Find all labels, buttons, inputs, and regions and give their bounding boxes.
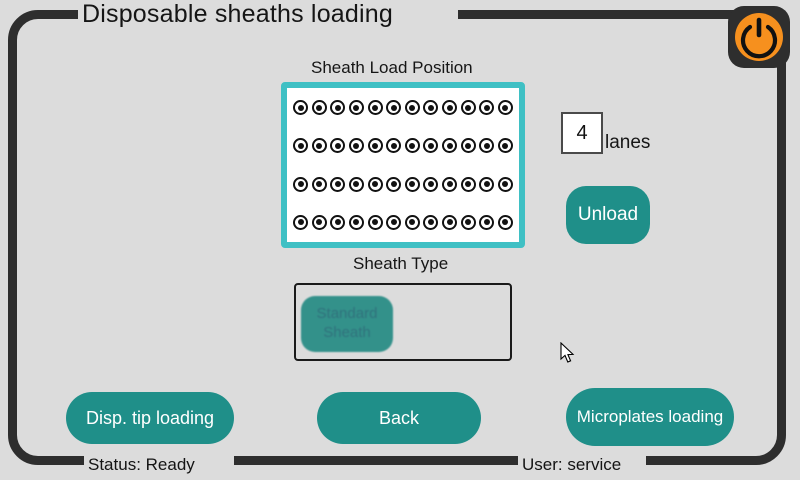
sheath-well[interactable] [330, 177, 345, 192]
sheath-well[interactable] [349, 100, 364, 115]
lanes-input[interactable]: 4 [561, 112, 603, 154]
sheath-well[interactable] [293, 100, 308, 115]
page-title: Disposable sheaths loading [82, 0, 393, 29]
sheath-well[interactable] [312, 215, 327, 230]
sheath-well-grid[interactable] [293, 100, 513, 230]
sheath-well[interactable] [386, 177, 401, 192]
sheath-well[interactable] [423, 215, 438, 230]
sheath-well[interactable] [479, 177, 494, 192]
sheath-well[interactable] [349, 138, 364, 153]
sheath-well[interactable] [442, 177, 457, 192]
user-bar: User: service [522, 455, 621, 475]
sheath-well[interactable] [461, 215, 476, 230]
microplates-loading-button[interactable]: Microplates loading [566, 388, 734, 446]
app-screen: Disposable sheaths loading Sheath Load P… [0, 0, 800, 480]
sheath-well[interactable] [498, 100, 513, 115]
sheath-well[interactable] [386, 138, 401, 153]
sheath-well[interactable] [349, 215, 364, 230]
sheath-well[interactable] [461, 100, 476, 115]
sheath-well[interactable] [386, 215, 401, 230]
sheath-well[interactable] [368, 177, 383, 192]
grid-row [293, 177, 513, 192]
sheath-well[interactable] [423, 100, 438, 115]
sheath-well[interactable] [479, 215, 494, 230]
sheath-well[interactable] [405, 100, 420, 115]
sheath-well[interactable] [405, 138, 420, 153]
sheath-well[interactable] [498, 177, 513, 192]
power-icon [735, 13, 783, 61]
sheath-well[interactable] [442, 215, 457, 230]
sheath-load-position-panel[interactable] [281, 82, 525, 248]
sheath-well[interactable] [330, 100, 345, 115]
sheath-well[interactable] [312, 138, 327, 153]
standard-sheath-button[interactable]: Standard Sheath [301, 296, 393, 352]
power-button[interactable] [728, 6, 790, 68]
sheath-well[interactable] [312, 177, 327, 192]
sheath-well[interactable] [293, 138, 308, 153]
grid-row [293, 138, 513, 153]
sheath-well[interactable] [293, 215, 308, 230]
disp-tip-loading-button[interactable]: Disp. tip loading [66, 392, 234, 444]
lanes-label: lanes [605, 132, 650, 154]
sheath-well[interactable] [461, 138, 476, 153]
sheath-well[interactable] [405, 215, 420, 230]
sheath-well[interactable] [368, 215, 383, 230]
sheath-well[interactable] [293, 177, 308, 192]
grid-row [293, 100, 513, 115]
sheath-well[interactable] [368, 138, 383, 153]
sheath-well[interactable] [312, 100, 327, 115]
sheath-type-label: Sheath Type [353, 254, 448, 274]
sheath-well[interactable] [423, 138, 438, 153]
grid-row [293, 215, 513, 230]
sheath-well[interactable] [498, 215, 513, 230]
sheath-well[interactable] [405, 177, 420, 192]
sheath-well[interactable] [423, 177, 438, 192]
sheath-well[interactable] [479, 100, 494, 115]
sheath-well[interactable] [442, 100, 457, 115]
sheath-well[interactable] [368, 100, 383, 115]
unload-button[interactable]: Unload [566, 186, 650, 244]
sheath-well[interactable] [479, 138, 494, 153]
sheath-well[interactable] [461, 177, 476, 192]
sheath-well[interactable] [330, 215, 345, 230]
sheath-well[interactable] [330, 138, 345, 153]
sheath-well[interactable] [442, 138, 457, 153]
sheath-well[interactable] [386, 100, 401, 115]
sheath-well[interactable] [349, 177, 364, 192]
sheath-load-position-label: Sheath Load Position [311, 58, 473, 78]
back-button[interactable]: Back [317, 392, 481, 444]
sheath-well[interactable] [498, 138, 513, 153]
status-bar: Status: Ready [88, 455, 195, 475]
